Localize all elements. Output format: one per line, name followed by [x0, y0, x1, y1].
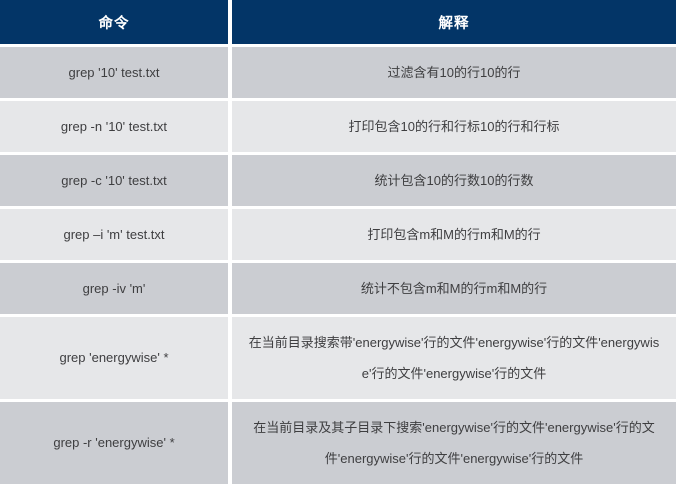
- command-text: grep -r 'energywise' *: [53, 430, 174, 456]
- table-row: grep -c '10' test.txt 统计包含10的行数10的行数: [0, 155, 676, 209]
- table-row: grep -r 'energywise' * 在当前目录及其子目录下搜索'ene…: [0, 402, 676, 484]
- explanation-text: 在当前目录搜索带'energywise'行的文件'energywise'行的文件…: [242, 327, 666, 389]
- cell-explanation: 统计不包含m和M的行m和M的行: [232, 263, 676, 317]
- column-header-command: 命令: [0, 0, 232, 47]
- command-text: grep -c '10' test.txt: [61, 168, 166, 194]
- explanation-text: 在当前目录及其子目录下搜索'energywise'行的文件'energywise…: [242, 412, 666, 474]
- command-text: grep -n '10' test.txt: [61, 114, 167, 140]
- cell-command: grep –i 'm' test.txt: [0, 209, 232, 263]
- cell-command: grep -n '10' test.txt: [0, 101, 232, 155]
- explanation-text: 打印包含10的行和行标10的行和行标: [349, 111, 560, 142]
- cell-explanation: 过滤含有10的行10的行: [232, 47, 676, 101]
- column-header-command-label: 命令: [99, 16, 130, 32]
- table-row: grep -n '10' test.txt 打印包含10的行和行标10的行和行标: [0, 101, 676, 155]
- cell-explanation: 在当前目录及其子目录下搜索'energywise'行的文件'energywise…: [232, 402, 676, 484]
- cell-explanation: 打印包含m和M的行m和M的行: [232, 209, 676, 263]
- command-text: grep '10' test.txt: [69, 60, 160, 86]
- cell-command: grep '10' test.txt: [0, 47, 232, 101]
- table-row: grep –i 'm' test.txt 打印包含m和M的行m和M的行: [0, 209, 676, 263]
- cell-explanation: 统计包含10的行数10的行数: [232, 155, 676, 209]
- cell-explanation: 在当前目录搜索带'energywise'行的文件'energywise'行的文件…: [232, 317, 676, 402]
- explanation-text: 统计不包含m和M的行m和M的行: [361, 273, 547, 304]
- explanation-text: 过滤含有10的行10的行: [388, 57, 521, 88]
- explanation-text: 统计包含10的行数10的行数: [375, 165, 534, 196]
- command-text: grep –i 'm' test.txt: [63, 222, 164, 248]
- cell-explanation: 打印包含10的行和行标10的行和行标: [232, 101, 676, 155]
- table-row: grep '10' test.txt 过滤含有10的行10的行: [0, 47, 676, 101]
- column-header-explanation: 解释: [232, 0, 676, 47]
- column-header-explanation-label: 解释: [439, 16, 470, 32]
- table-row: grep 'energywise' * 在当前目录搜索带'energywise'…: [0, 317, 676, 402]
- command-reference-table: 命令 解释 grep '10' test.txt 过滤含有10的行10的行 gr…: [0, 0, 676, 484]
- cell-command: grep -c '10' test.txt: [0, 155, 232, 209]
- cell-command: grep -iv 'm': [0, 263, 232, 317]
- cell-command: grep 'energywise' *: [0, 317, 232, 402]
- command-text: grep -iv 'm': [83, 276, 146, 302]
- explanation-text: 打印包含m和M的行m和M的行: [367, 219, 540, 250]
- cell-command: grep -r 'energywise' *: [0, 402, 232, 484]
- command-text: grep 'energywise' *: [59, 345, 168, 371]
- table-header-row: 命令 解释: [0, 0, 676, 47]
- table-row: grep -iv 'm' 统计不包含m和M的行m和M的行: [0, 263, 676, 317]
